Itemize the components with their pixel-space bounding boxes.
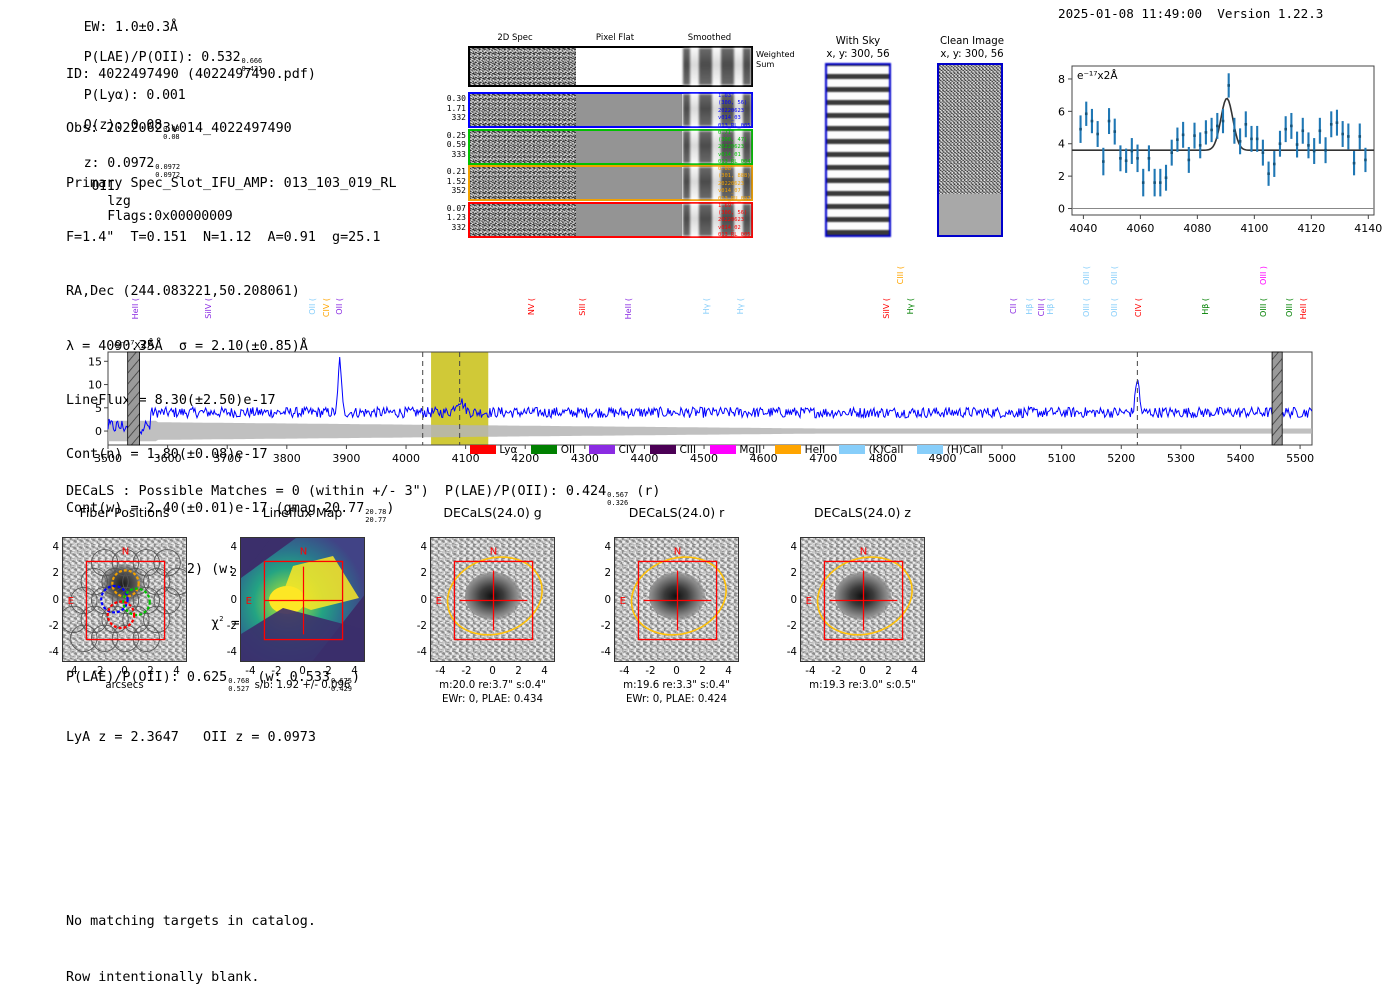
- svg-text:3700: 3700: [213, 452, 241, 465]
- cutout-y-tick: 4: [593, 541, 611, 553]
- legend-item: (K)CalI: [839, 444, 903, 456]
- with-sky-image: [825, 63, 891, 237]
- cutout-y-tick: 0: [779, 594, 797, 606]
- spectral-line-label: OIII (: [1110, 298, 1119, 317]
- fiber-weight-values: 0.250.59333: [430, 131, 466, 160]
- spectral-line-label: SiIV (: [882, 298, 891, 319]
- legend-item: MgII: [710, 444, 761, 456]
- svg-text:4000: 4000: [392, 452, 420, 465]
- cutout-x-tick: 4: [722, 665, 736, 677]
- with-sky-title: With Sky: [810, 36, 906, 49]
- svg-text:N: N: [860, 546, 867, 557]
- fiber-row[interactable]: [468, 92, 753, 128]
- cutout-title: Fiber Positions: [42, 505, 207, 520]
- svg-text:5: 5: [95, 402, 102, 415]
- legend-item: (H)CalI: [917, 444, 982, 456]
- decals-cutout-row: Fiber PositionsNE-4-2024420-2-4arcsecsLi…: [0, 505, 1000, 735]
- clean-image-coords: x, y: 300, 56: [920, 49, 1024, 62]
- spectral-line-label: NV (: [527, 298, 536, 315]
- spec2d-weighted-sum-label: Weighted Sum: [756, 49, 795, 69]
- bottom-note-line2: Row intentionally blank.: [66, 969, 316, 988]
- legend-item: CIV: [589, 444, 636, 456]
- spectral-line-label: OII (: [335, 298, 344, 315]
- cutout-y-tick: 4: [41, 541, 59, 553]
- cutout-x-tick: -4: [243, 665, 257, 677]
- spectral-line-label: Hβ (: [1201, 298, 1210, 315]
- svg-text:3900: 3900: [332, 452, 360, 465]
- cutout-y-tick: 2: [219, 567, 237, 579]
- cutout-x-tick: 4: [908, 665, 922, 677]
- svg-text:5100: 5100: [1048, 452, 1076, 465]
- fiber-row[interactable]: [468, 165, 753, 201]
- spectrum-legend: Lyα OII CIV CIII MgII HeII (K)CalI (H)Ca…: [470, 444, 997, 456]
- spectral-line-label: HeII (: [1299, 298, 1308, 319]
- svg-text:5500: 5500: [1286, 452, 1314, 465]
- svg-text:N: N: [300, 546, 307, 557]
- legend-item: Lyα: [470, 444, 517, 456]
- cutout-y-tick: -4: [219, 646, 237, 658]
- spectral-line-label: CII (: [1009, 298, 1018, 314]
- cutout-y-tick: 2: [779, 567, 797, 579]
- spectral-line-label: OIII (: [1285, 298, 1294, 317]
- cutout-caption-secondary: EWr: 0, PLAE: 0.424: [586, 694, 767, 705]
- cutout-caption: m:20.0 re:3.7" s:0.4": [402, 680, 583, 691]
- svg-text:8: 8: [1058, 73, 1065, 86]
- spectral-line-label: HeII (: [624, 298, 633, 319]
- spectral-line-label: CIV (: [1134, 298, 1143, 317]
- cutout-x-tick: -4: [65, 665, 79, 677]
- svg-text:4120: 4120: [1297, 222, 1325, 235]
- info-id: ID: 4022497490 (4022497490.pdf): [66, 66, 397, 84]
- spec2d-panel: 2D Spec Pixel Flat Smoothed Weighted Sum…: [430, 33, 760, 238]
- info-seeing: F=1.4" T=0.151 N=1.12 A=0.91 g=25.1: [66, 229, 397, 247]
- cutout-x-tick: 2: [144, 665, 158, 677]
- cutout-x-tick: -4: [433, 665, 447, 677]
- cutout-y-tick: 0: [219, 594, 237, 606]
- legend-label: Lyα: [496, 444, 517, 456]
- legend-label: MgII: [736, 444, 761, 456]
- svg-text:E: E: [436, 596, 442, 607]
- legend-label: (H)CalI: [943, 444, 982, 456]
- legend-color-chip: [470, 445, 496, 454]
- legend-label: (K)CalI: [865, 444, 903, 456]
- spectral-line-label: Hγ (: [906, 298, 915, 314]
- cutout-y-tick: 2: [593, 567, 611, 579]
- legend-color-chip: [710, 445, 736, 454]
- spectral-line-label: CIII (: [1037, 298, 1046, 316]
- legend-color-chip: [531, 445, 557, 454]
- cutout-title: DECaLS(24.0) g: [410, 505, 575, 520]
- spec2d-weighted-sum-row: [468, 46, 753, 87]
- cutout-y-tick: -2: [41, 620, 59, 632]
- emission-line-fit-chart: 02468404040604080410041204140e⁻¹⁷x2Å: [1036, 58, 1384, 243]
- svg-text:3800: 3800: [273, 452, 301, 465]
- cutout-x-tick: 0: [856, 665, 870, 677]
- svg-text:6: 6: [1058, 105, 1065, 118]
- cutout-image[interactable]: NE: [800, 537, 925, 662]
- svg-text:e⁻¹⁷x2Å: e⁻¹⁷x2Å: [1077, 69, 1118, 82]
- svg-text:2: 2: [1058, 170, 1065, 183]
- header-version: Version 1.22.3: [1217, 6, 1323, 21]
- cutout-x-tick: -2: [829, 665, 843, 677]
- legend-label: HeII: [801, 444, 825, 456]
- legend-label: CIII: [676, 444, 696, 456]
- spectral-line-label: OIII (: [1082, 266, 1091, 285]
- cutout-x-tick: 2: [512, 665, 526, 677]
- spectral-line-label: OII (: [308, 298, 317, 315]
- cutout-caption: arcsecs: [34, 680, 215, 691]
- spectral-line-label: OIII (: [1110, 266, 1119, 285]
- svg-text:4060: 4060: [1126, 222, 1154, 235]
- header-datetime: 2025-01-08 11:49:00: [1058, 6, 1202, 21]
- fiber-row[interactable]: [468, 129, 753, 165]
- spectral-line-label: SiIV (: [204, 298, 213, 319]
- fiber-weight-values: 0.301.71332: [430, 94, 466, 123]
- svg-text:4: 4: [1058, 138, 1065, 151]
- cutout-title: DECaLS(24.0) r: [594, 505, 759, 520]
- cutout-y-tick: 0: [41, 594, 59, 606]
- cutout-x-tick: 2: [882, 665, 896, 677]
- cutout-image[interactable]: NE: [614, 537, 739, 662]
- full-spectrum-chart: 0510153500360037003800390040004100420043…: [80, 266, 1320, 471]
- svg-text:E: E: [246, 596, 252, 607]
- cutout-y-tick: -4: [593, 646, 611, 658]
- cutout-x-tick: 4: [348, 665, 362, 677]
- svg-text:0: 0: [95, 425, 102, 438]
- spectral-line-label: Hβ (: [1046, 298, 1055, 315]
- cutout-caption-secondary: EWr: 0, PLAE: 0.434: [402, 694, 583, 705]
- legend-label: OII: [557, 444, 575, 456]
- with-sky-coords: x, y: 300, 56: [810, 49, 906, 62]
- cutout-image[interactable]: NE: [62, 537, 187, 662]
- cutout-x-tick: -4: [617, 665, 631, 677]
- cutout-title: Lineflux Map: [220, 505, 385, 520]
- svg-text:5400: 5400: [1226, 452, 1254, 465]
- fiber-weight-values: 0.071.23332: [430, 204, 466, 233]
- cutout-y-tick: -4: [41, 646, 59, 658]
- svg-text:10: 10: [88, 379, 102, 392]
- legend-label: CIV: [615, 444, 636, 456]
- bottom-note-line1: No matching targets in catalog.: [66, 913, 316, 932]
- cutout-y-tick: 4: [409, 541, 427, 553]
- fiber-metadata: 0.88" (301, 888) 20220623 v014_07 013_RU…: [718, 166, 778, 203]
- cutout-y-tick: -4: [409, 646, 427, 658]
- svg-text:15: 15: [88, 355, 102, 368]
- cutout-y-tick: -4: [779, 646, 797, 658]
- cutout-x-tick: -2: [459, 665, 473, 677]
- svg-text:N: N: [122, 546, 129, 557]
- fiber-weight-values: 0.211.52352: [430, 167, 466, 196]
- legend-color-chip: [650, 445, 676, 454]
- legend-color-chip: [589, 445, 615, 454]
- decals-header-post: (r): [636, 484, 660, 499]
- cutout-x-tick: 0: [296, 665, 310, 677]
- svg-text:4040: 4040: [1069, 222, 1097, 235]
- cutout-y-tick: 2: [41, 567, 59, 579]
- cutout-x-tick: 2: [696, 665, 710, 677]
- cutout-x-tick: 0: [118, 665, 132, 677]
- svg-text:3500: 3500: [94, 452, 122, 465]
- legend-color-chip: [839, 445, 865, 454]
- spec2d-col-title-smoothed: Smoothed: [662, 33, 757, 43]
- legend-item: OII: [531, 444, 575, 456]
- svg-text:E: E: [68, 596, 74, 607]
- cutout-x-tick: -4: [803, 665, 817, 677]
- line-fit-svg: 02468404040604080410041204140e⁻¹⁷x2Å: [1036, 58, 1384, 243]
- cutout-y-tick: -2: [409, 620, 427, 632]
- fiber-metadata: 0.71" (300, 47) 20220623 v014_01 013_RL_…: [718, 130, 778, 167]
- cutout-y-tick: -2: [219, 620, 237, 632]
- cutout-y-tick: 0: [593, 594, 611, 606]
- svg-text:4100: 4100: [1240, 222, 1268, 235]
- svg-text:0: 0: [1058, 203, 1065, 216]
- cutout-y-tick: 2: [409, 567, 427, 579]
- clean-image-title: Clean Image: [920, 36, 1024, 49]
- spectral-line-label: Hγ (: [736, 298, 745, 314]
- cutout-title: DECaLS(24.0) z: [780, 505, 945, 520]
- svg-text:4140: 4140: [1354, 222, 1382, 235]
- cutout-y-tick: 4: [219, 541, 237, 553]
- cutout-x-tick: -2: [91, 665, 105, 677]
- decals-header-pre: DECaLS : Possible Matches = 0 (within +/…: [66, 484, 606, 499]
- svg-text:E: E: [806, 596, 812, 607]
- spectral-line-label: CIV (: [322, 298, 331, 317]
- cutout-x-tick: -2: [643, 665, 657, 677]
- fiber-metadata: 1.03" (300, 56) 20220623 v014_03 013_RL_…: [718, 93, 778, 130]
- cutout-y-tick: -2: [779, 620, 797, 632]
- spectral-line-label: SiII (: [578, 298, 587, 316]
- cutout-x-tick: 2: [322, 665, 336, 677]
- cutout-x-tick: 4: [170, 665, 184, 677]
- spectral-line-label: HeII (: [131, 298, 140, 319]
- spectral-line-label: OIII (: [1259, 298, 1268, 317]
- legend-color-chip: [917, 445, 943, 454]
- cutout-caption: m:19.3 re:3.0" s:0.5": [772, 680, 953, 691]
- decals-header: DECaLS : Possible Matches = 0 (within +/…: [66, 484, 660, 507]
- legend-item: CIII: [650, 444, 696, 456]
- fiber-metadata: 1.69" (300, 56) 20220623 v014_02 013_RL_…: [718, 203, 778, 240]
- cutout-x-tick: 0: [670, 665, 684, 677]
- legend-color-chip: [775, 445, 801, 454]
- clean-image: [937, 63, 1003, 237]
- cutout-y-tick: 0: [409, 594, 427, 606]
- svg-text:N: N: [674, 546, 681, 557]
- info-primary-spec: Primary Spec_Slot_IFU_AMP: 013_103_019_R…: [66, 175, 397, 193]
- svg-text:5200: 5200: [1107, 452, 1135, 465]
- spec2d-col-title-2dspec: 2D Spec: [465, 33, 565, 43]
- info-obs: Obs: 20220623v014_4022497490: [66, 120, 397, 138]
- cutout-x-tick: 4: [538, 665, 552, 677]
- cutout-y-tick: 4: [779, 541, 797, 553]
- spec2d-fiber-rows: 0.301.713321.03" (300, 56) 20220623 v014…: [430, 92, 760, 238]
- spec2d-col-title-pixelflat: Pixel Flat: [565, 33, 665, 43]
- bottom-note: No matching targets in catalog. Row inte…: [66, 876, 316, 1006]
- cutout-image[interactable]: NE: [240, 537, 365, 662]
- spectral-line-label: Hβ (: [1025, 298, 1034, 315]
- spectral-line-label: OIII ): [1259, 266, 1268, 285]
- svg-text:N: N: [490, 546, 497, 557]
- cutout-caption: m:19.6 re:3.3" s:0.4": [586, 680, 767, 691]
- spectral-line-label: Hγ (: [702, 298, 711, 314]
- svg-text:3600: 3600: [154, 452, 182, 465]
- cutout-x-tick: -2: [269, 665, 283, 677]
- fiber-row[interactable]: [468, 202, 753, 238]
- cutout-caption: s/b: 1.92 +/- 0.096: [212, 680, 393, 691]
- spectrum-line-labels: HeII (SiIV (OII (CIV (OII (NV (SiII (HeI…: [80, 266, 1320, 352]
- cutout-x-tick: 0: [486, 665, 500, 677]
- legend-item: HeII: [775, 444, 825, 456]
- svg-text:E: E: [620, 596, 626, 607]
- svg-text:5300: 5300: [1167, 452, 1195, 465]
- spectral-line-label: OIII (: [1082, 298, 1091, 317]
- spectral-line-label: CIII (: [896, 266, 905, 284]
- header-timestamp-version: 2025-01-08 11:49:00 Version 1.22.3: [1058, 6, 1323, 21]
- svg-text:4080: 4080: [1183, 222, 1211, 235]
- cutout-y-tick: -2: [593, 620, 611, 632]
- cutout-image[interactable]: NE: [430, 537, 555, 662]
